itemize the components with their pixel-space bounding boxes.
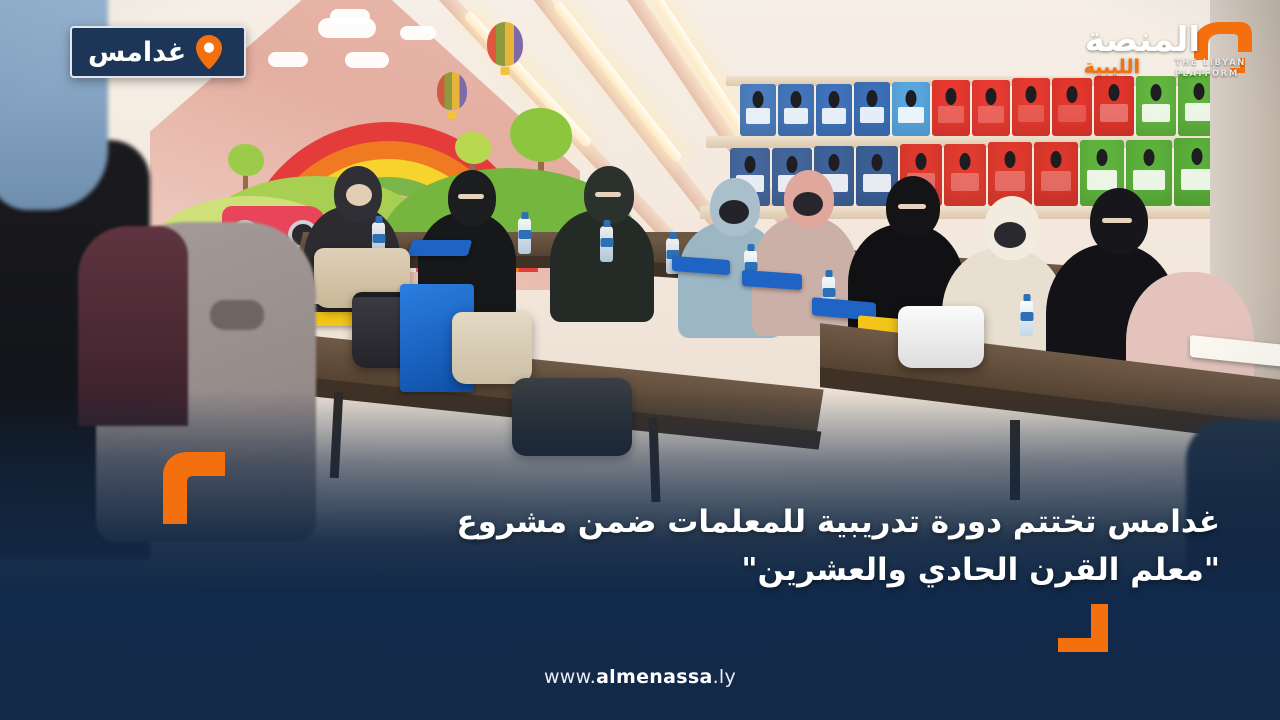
water-bottle [600,226,613,262]
tree-mural [455,132,491,164]
headline: غدامس تختتم دورة تدريبية للمعلمات ضمن مش… [240,498,1220,594]
cloud-mural [345,52,389,68]
cubby-bin-blue [854,82,890,136]
blue-folder [408,240,473,256]
water-bottle [518,218,531,254]
url-brand: almenassa [596,666,713,688]
hot-air-balloon-mural [437,72,467,110]
location-label: غدامس [88,39,186,66]
logo-arabic-subname: الليبية [1084,56,1140,78]
brand-logo: المنصة الليبية THE LIBYAN PLATFORM [1042,16,1258,90]
hot-air-balloon-mural [487,22,523,66]
table-leg [1010,420,1020,500]
handbag-cream [452,312,532,384]
website-url: www.almenassa.ly [0,666,1280,688]
logo-english-name: THE LIBYAN PLATFORM [1175,58,1246,80]
orange-corner-bracket-icon [163,452,225,524]
location-badge: غدامس [70,26,246,78]
foreground-person-maroon [78,226,188,426]
foreground-person-grey-hijab-face [210,300,264,330]
handbag-white [898,306,984,368]
water-bottle [1020,300,1033,336]
logo-arabic-name: المنصة [1085,20,1200,60]
orange-angle-bracket-icon [1058,604,1108,652]
cubby-bin-red [972,80,1010,136]
headline-line-2: "معلم القرن الحادي والعشرين" [240,546,1220,594]
tree-mural [228,144,264,176]
cubby-bin-red [944,144,986,206]
cubby-bin-blue [740,84,776,136]
headline-line-1: غدامس تختتم دورة تدريبية للمعلمات ضمن مش… [457,504,1220,540]
cubby-bin-red [1034,142,1078,206]
url-prefix: www. [544,666,596,688]
cubby-bin-blue [816,84,852,136]
url-suffix: .ly [713,666,736,688]
logo-english-line2: PLATFORM [1175,69,1239,79]
news-card: غدامس المنصة الليبية THE LIBYAN PLATFORM… [0,0,1280,720]
cubby-bin-blue [892,82,930,136]
cubby-bin-blue [778,84,814,136]
duffel-bag-black [512,378,632,456]
map-pin-icon [196,35,222,69]
logo-english-line1: THE LIBYAN [1175,58,1246,68]
cloud-mural [268,52,308,67]
cloud-mural [400,26,436,40]
cubby-bin-red [932,80,970,136]
cloud-mural [330,9,370,24]
tree-mural [510,108,572,162]
